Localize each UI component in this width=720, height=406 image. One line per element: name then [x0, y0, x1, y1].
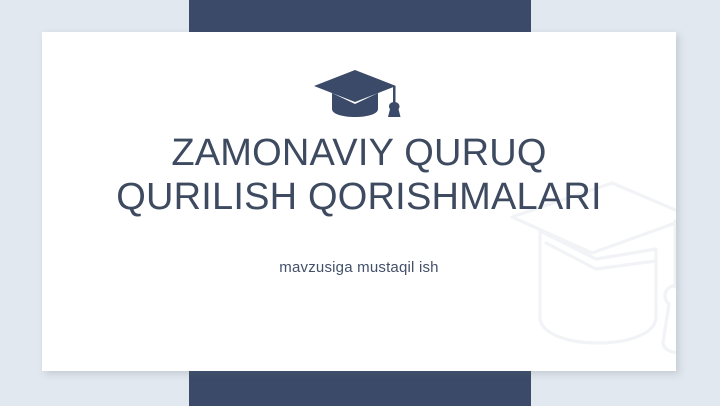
- slide-subtitle: mavzusiga mustaqil ish: [79, 259, 639, 276]
- slide-body: ZAMONAVIY QURUQ QURILISH QORISHMALARI ma…: [42, 32, 676, 371]
- page-title: ZAMONAVIY QURUQ QURILISH QORISHMALARI: [79, 131, 639, 219]
- slide-content-card: ZAMONAVIY QURUQ QURILISH QORISHMALARI ma…: [42, 32, 676, 371]
- graduation-cap-icon: [310, 67, 408, 119]
- presentation-slide: ZAMONAVIY QURUQ QURILISH QORISHMALARI ma…: [0, 0, 720, 406]
